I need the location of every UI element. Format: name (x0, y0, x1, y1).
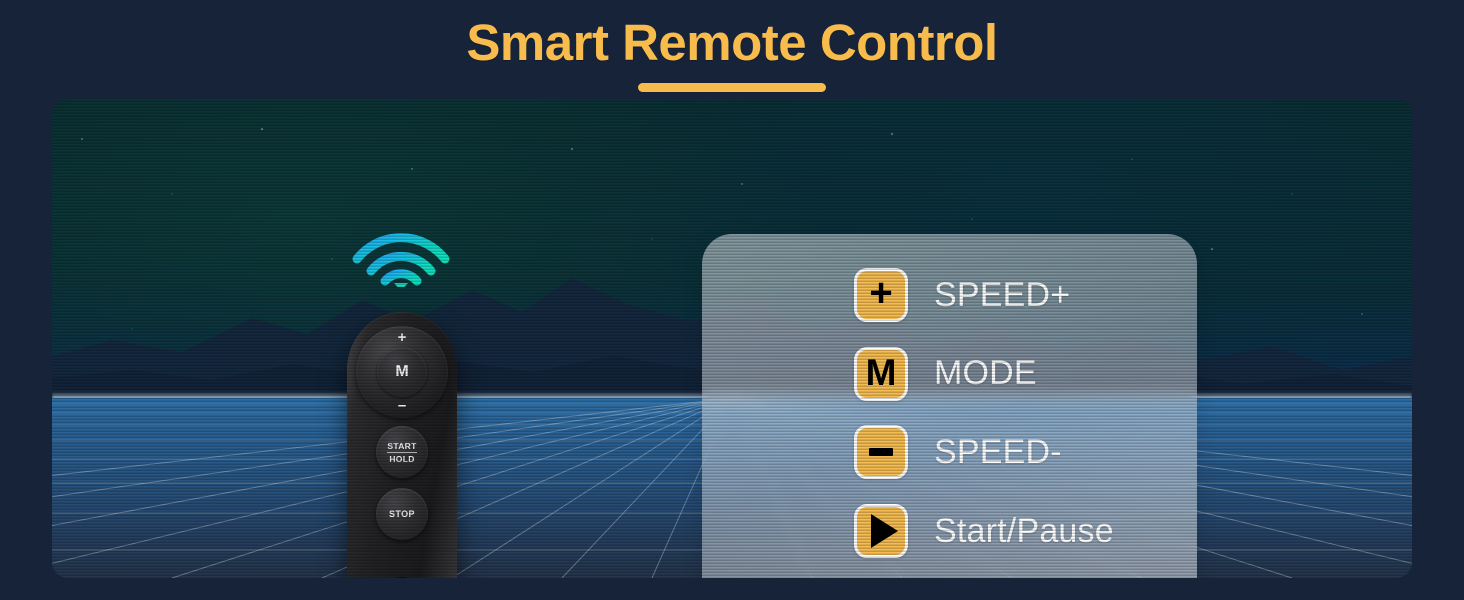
wifi-signal-icon (349, 221, 453, 287)
hero-image-panel: + M – START HOLD STOP + SPEED+ M MODE (52, 99, 1412, 578)
page-header: Smart Remote Control (0, 12, 1464, 92)
remote-plus-label[interactable]: + (398, 330, 407, 345)
legend-item-mode[interactable]: M MODE (702, 335, 1197, 414)
minus-icon (854, 425, 908, 479)
remote-stop-button[interactable]: STOP (376, 488, 428, 540)
stop-label: STOP (389, 509, 415, 519)
start-hold-line1: START (387, 441, 416, 453)
play-icon (854, 504, 908, 558)
mode-icon: M (854, 347, 908, 401)
remote-dial-ring[interactable]: + M – (356, 326, 448, 418)
legend-item-speed-up[interactable]: + SPEED+ (702, 256, 1197, 335)
legend-item-speed-down[interactable]: SPEED- (702, 413, 1197, 492)
minus-bar-glyph (869, 448, 893, 456)
title-underline-bar (638, 83, 826, 92)
play-triangle-glyph (871, 514, 898, 548)
legend-label-speed-down: SPEED- (934, 433, 1062, 472)
remote-mode-button[interactable]: M (377, 347, 427, 397)
legend-label-mode: MODE (934, 354, 1037, 393)
legend-label-start-pause: Start/Pause (934, 512, 1114, 551)
legend-item-stop[interactable]: Stop (702, 570, 1197, 578)
remote-minus-label[interactable]: – (398, 398, 406, 413)
plus-glyph: + (869, 273, 892, 313)
remote-control-device: + M – START HOLD STOP (347, 312, 457, 578)
legend-label-speed-up: SPEED+ (934, 276, 1070, 315)
page-title: Smart Remote Control (0, 12, 1464, 74)
mode-glyph: M (866, 354, 897, 391)
legend-item-start-pause[interactable]: Start/Pause (702, 492, 1197, 571)
plus-icon: + (854, 268, 908, 322)
remote-start-hold-button[interactable]: START HOLD (376, 426, 428, 478)
legend-glass-panel: + SPEED+ M MODE SPEED- Start/Pause (702, 234, 1197, 578)
start-hold-line2: HOLD (389, 453, 414, 464)
